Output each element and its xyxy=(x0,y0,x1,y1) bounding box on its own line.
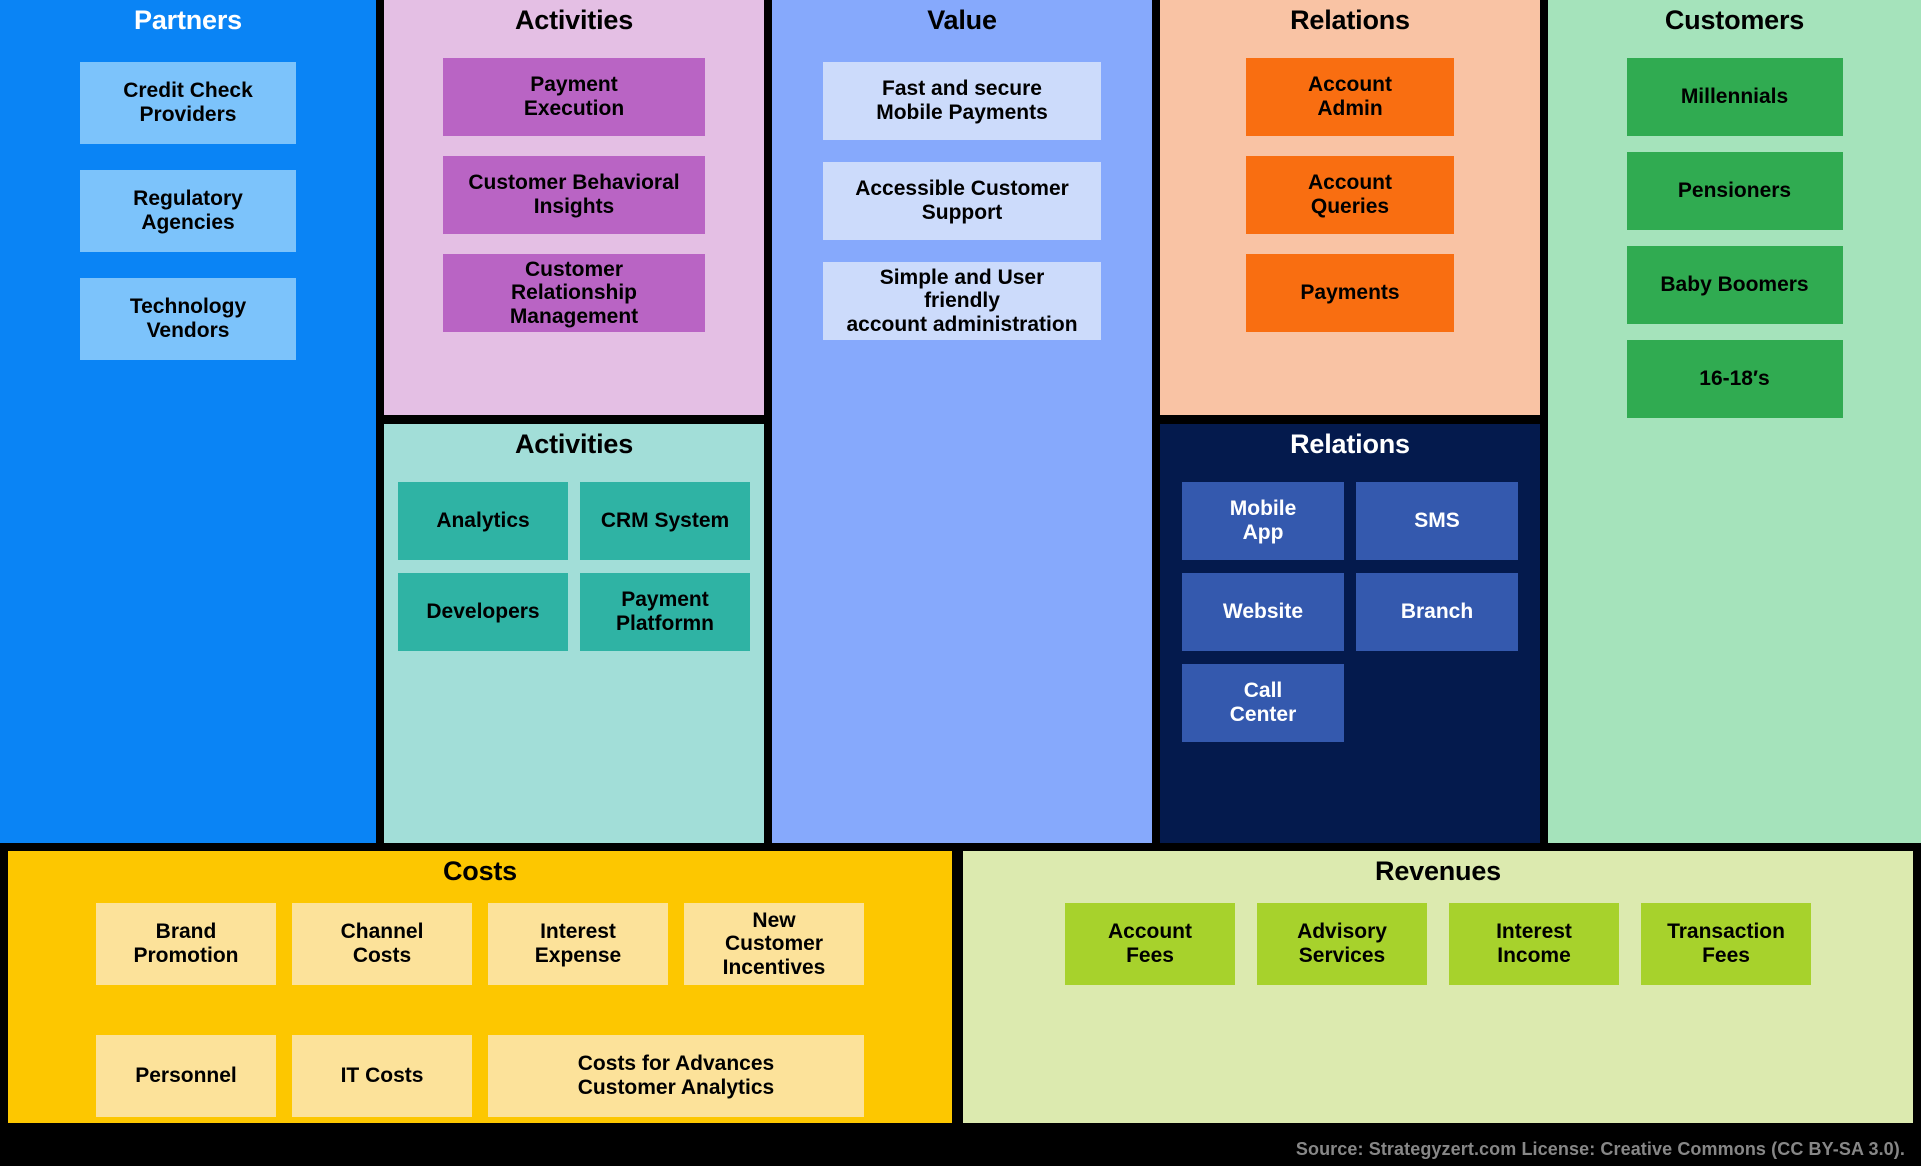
card-label: PaymentExecution xyxy=(447,73,701,120)
card-label: Payments xyxy=(1250,281,1450,305)
activities-key-card[interactable]: PaymentExecution xyxy=(443,58,705,136)
block-value: Value Fast and secureMobile Payments Acc… xyxy=(772,0,1152,843)
revenues-card[interactable]: InterestIncome xyxy=(1449,903,1619,985)
relations-channels-card[interactable]: SMS xyxy=(1356,482,1518,560)
card-label: Personnel xyxy=(100,1064,272,1088)
relations-channels-card-grid: MobileApp SMS Website Branch CallCenter xyxy=(1182,482,1518,742)
block-revenues: Revenues AccountFees AdvisoryServices In… xyxy=(963,851,1913,1123)
business-model-canvas: Partners Credit CheckProviders Regulator… xyxy=(0,0,1921,1166)
costs-card[interactable]: Costs for AdvancesCustomer Analytics xyxy=(488,1035,864,1117)
relations-customer-title: Relations xyxy=(1160,0,1540,34)
costs-card[interactable]: IT Costs xyxy=(292,1035,472,1117)
card-label: IT Costs xyxy=(296,1064,468,1088)
partners-card[interactable]: TechnologyVendors xyxy=(80,278,296,360)
card-label: AdvisoryServices xyxy=(1261,920,1423,967)
card-label: SMS xyxy=(1360,509,1514,533)
customers-title: Customers xyxy=(1548,0,1921,34)
block-customers: Customers Millennials Pensioners Baby Bo… xyxy=(1548,0,1921,843)
costs-card[interactable]: Personnel xyxy=(96,1035,276,1117)
block-activities-key: Activities PaymentExecution Customer Beh… xyxy=(384,0,764,415)
card-label: Simple and Userfriendlyaccount administr… xyxy=(827,266,1097,337)
block-costs: Costs BrandPromotion ChannelCosts Intere… xyxy=(8,851,952,1123)
revenues-card[interactable]: TransactionFees xyxy=(1641,903,1811,985)
card-label: TransactionFees xyxy=(1645,920,1807,967)
relations-channels-card[interactable]: Branch xyxy=(1356,573,1518,651)
card-label: NewCustomerIncentives xyxy=(688,909,860,980)
card-label: Branch xyxy=(1360,600,1514,624)
activities-key-card[interactable]: Customer BehavioralInsights xyxy=(443,156,705,234)
card-label: InterestExpense xyxy=(492,920,664,967)
relations-channels-title: Relations xyxy=(1160,424,1540,458)
relations-customer-card[interactable]: Payments xyxy=(1246,254,1454,332)
activities-resources-card[interactable]: Analytics xyxy=(398,482,568,560)
relations-channels-card[interactable]: Website xyxy=(1182,573,1344,651)
activities-resources-title: Activities xyxy=(384,424,764,458)
card-label: Customer BehavioralInsights xyxy=(447,171,701,218)
activities-resources-card[interactable]: Developers xyxy=(398,573,568,651)
costs-card[interactable]: BrandPromotion xyxy=(96,903,276,985)
activities-resources-card-grid: Analytics CRM System Developers PaymentP… xyxy=(398,482,750,651)
card-label: TechnologyVendors xyxy=(84,295,292,342)
card-label: 16-18′s xyxy=(1631,367,1839,391)
card-label: Analytics xyxy=(402,509,564,533)
card-label: CallCenter xyxy=(1186,679,1340,726)
revenues-card-list: AccountFees AdvisoryServices InterestInc… xyxy=(963,903,1913,985)
partners-card[interactable]: RegulatoryAgencies xyxy=(80,170,296,252)
costs-card[interactable]: InterestExpense xyxy=(488,903,668,985)
value-card-list: Fast and secureMobile Payments Accessibl… xyxy=(772,62,1152,340)
card-label: Costs for AdvancesCustomer Analytics xyxy=(492,1052,860,1099)
card-label: Baby Boomers xyxy=(1631,273,1839,297)
relations-channels-card[interactable]: MobileApp xyxy=(1182,482,1344,560)
relations-customer-card[interactable]: AccountAdmin xyxy=(1246,58,1454,136)
activities-key-card[interactable]: CustomerRelationshipManagement xyxy=(443,254,705,332)
card-label: Fast and secureMobile Payments xyxy=(827,77,1097,124)
costs-card[interactable]: NewCustomerIncentives xyxy=(684,903,864,985)
card-label: ChannelCosts xyxy=(296,920,468,967)
customers-card[interactable]: 16-18′s xyxy=(1627,340,1843,418)
costs-title: Costs xyxy=(8,851,952,885)
activities-resources-card[interactable]: PaymentPlatformn xyxy=(580,573,750,651)
partners-card[interactable]: Credit CheckProviders xyxy=(80,62,296,144)
value-card[interactable]: Fast and secureMobile Payments xyxy=(823,62,1101,140)
activities-resources-card[interactable]: CRM System xyxy=(580,482,750,560)
card-label: RegulatoryAgencies xyxy=(84,187,292,234)
card-label: MobileApp xyxy=(1186,497,1340,544)
customers-card-list: Millennials Pensioners Baby Boomers 16-1… xyxy=(1548,58,1921,418)
card-label: Credit CheckProviders xyxy=(84,79,292,126)
value-card[interactable]: Simple and Userfriendlyaccount administr… xyxy=(823,262,1101,340)
source-attribution: Source: Strategyzert.com License: Creati… xyxy=(1296,1139,1905,1160)
card-label: Developers xyxy=(402,600,564,624)
block-relations-channels: Relations MobileApp SMS Website Branch C… xyxy=(1160,424,1540,843)
activities-key-title: Activities xyxy=(384,0,764,34)
card-label: Accessible CustomerSupport xyxy=(827,177,1097,224)
customers-card[interactable]: Millennials xyxy=(1627,58,1843,136)
block-partners: Partners Credit CheckProviders Regulator… xyxy=(0,0,376,843)
card-label: Pensioners xyxy=(1631,179,1839,203)
partners-card-list: Credit CheckProviders RegulatoryAgencies… xyxy=(0,62,376,360)
card-label: PaymentPlatformn xyxy=(584,588,746,635)
relations-channels-card[interactable]: CallCenter xyxy=(1182,664,1344,742)
costs-row-1: BrandPromotion ChannelCosts InterestExpe… xyxy=(8,903,952,985)
card-label: Millennials xyxy=(1631,85,1839,109)
customers-card[interactable]: Baby Boomers xyxy=(1627,246,1843,324)
card-label: Website xyxy=(1186,600,1340,624)
activities-key-card-list: PaymentExecution Customer BehavioralInsi… xyxy=(384,58,764,332)
card-label: AccountQueries xyxy=(1250,171,1450,218)
costs-card[interactable]: ChannelCosts xyxy=(292,903,472,985)
revenues-card[interactable]: AdvisoryServices xyxy=(1257,903,1427,985)
value-title: Value xyxy=(772,0,1152,34)
relations-customer-card[interactable]: AccountQueries xyxy=(1246,156,1454,234)
partners-title: Partners xyxy=(0,0,376,34)
card-label: InterestIncome xyxy=(1453,920,1615,967)
card-label: AccountFees xyxy=(1069,920,1231,967)
revenues-card[interactable]: AccountFees xyxy=(1065,903,1235,985)
card-label: AccountAdmin xyxy=(1250,73,1450,120)
card-label: BrandPromotion xyxy=(100,920,272,967)
card-label: CustomerRelationshipManagement xyxy=(447,258,701,329)
revenues-title: Revenues xyxy=(963,851,1913,885)
block-relations-customer: Relations AccountAdmin AccountQueries Pa… xyxy=(1160,0,1540,415)
customers-card[interactable]: Pensioners xyxy=(1627,152,1843,230)
value-card[interactable]: Accessible CustomerSupport xyxy=(823,162,1101,240)
relations-customer-card-list: AccountAdmin AccountQueries Payments xyxy=(1160,58,1540,332)
card-label: CRM System xyxy=(584,509,746,533)
block-activities-resources: Activities Analytics CRM System Develope… xyxy=(384,424,764,843)
costs-row-2: Personnel IT Costs Costs for AdvancesCus… xyxy=(8,1035,952,1117)
